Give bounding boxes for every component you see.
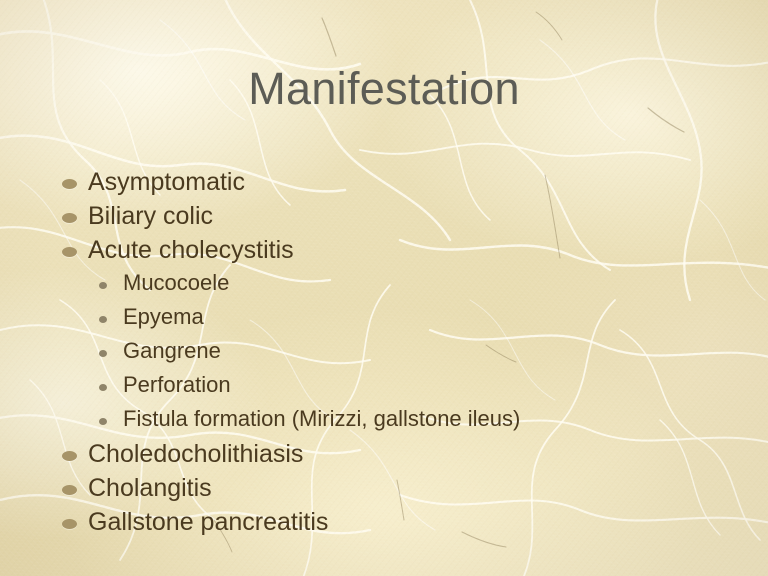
list-item[interactable]: Choledocholithiasis [0,440,768,474]
list-item-label: Cholangitis [88,474,212,503]
list-item-label: Perforation [123,372,231,398]
bullet-level2-icon [99,382,123,392]
bullet-level1-icon [62,484,88,496]
list-item[interactable]: Biliary colic [0,202,768,236]
bullet-level1-icon [62,518,88,530]
list-item[interactable]: Fistula formation (Mirizzi, gallstone il… [0,406,768,440]
bullet-level1-icon [62,212,88,224]
list-item-label: Epyema [123,304,204,330]
bullet-level2-icon [99,348,123,358]
list-item[interactable]: Asymptomatic [0,168,768,202]
list-item-label: Choledocholithiasis [88,440,303,469]
list-item[interactable]: Perforation [0,372,768,406]
slide-bullet-list: Asymptomatic Biliary colic Acute cholecy… [0,168,768,542]
list-item-label: Fistula formation (Mirizzi, gallstone il… [123,406,520,432]
list-item[interactable]: Cholangitis [0,474,768,508]
list-item[interactable]: Mucocoele [0,270,768,304]
list-item-label: Gangrene [123,338,221,364]
list-item[interactable]: Gangrene [0,338,768,372]
list-item-label: Gallstone pancreatitis [88,508,328,537]
bullet-level1-icon [62,178,88,190]
bullet-level1-icon [62,450,88,462]
list-item-label: Mucocoele [123,270,229,296]
list-item-label: Acute cholecystitis [88,236,294,265]
list-item-label: Biliary colic [88,202,213,231]
list-item[interactable]: Epyema [0,304,768,338]
list-item-label: Asymptomatic [88,168,245,197]
list-item[interactable]: Acute cholecystitis [0,236,768,270]
bullet-level2-icon [99,314,123,324]
slide-title: Manifestation [0,64,768,114]
bullet-level1-icon [62,246,88,258]
bullet-level2-icon [99,416,123,426]
bullet-level2-icon [99,280,123,290]
presentation-slide: Manifestation Asymptomatic Biliary colic… [0,0,768,576]
list-item[interactable]: Gallstone pancreatitis [0,508,768,542]
